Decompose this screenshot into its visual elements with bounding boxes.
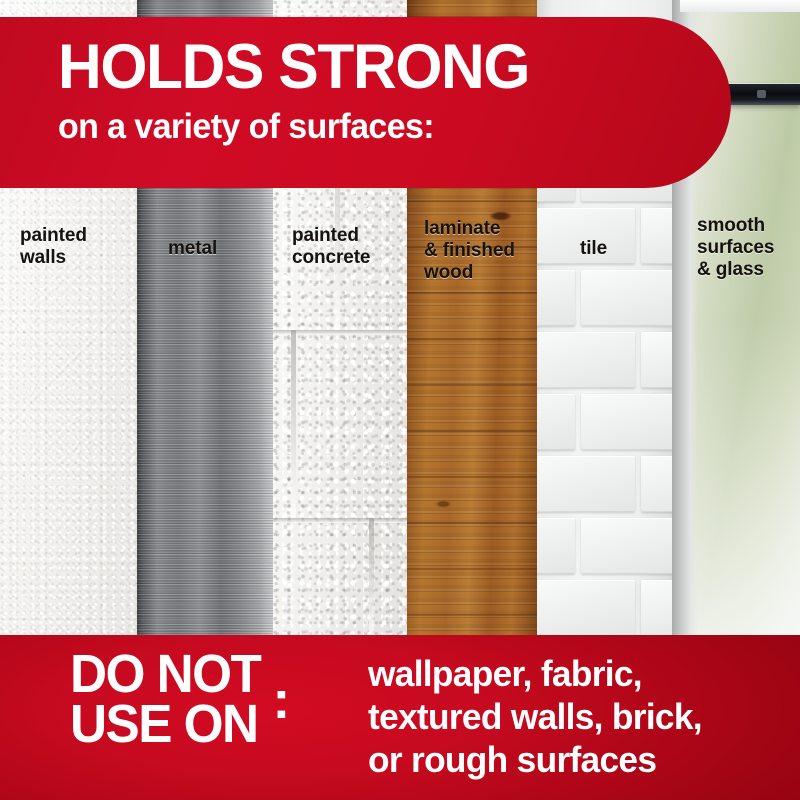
do-not-use-lead-group: DO NOT USE ON : xyxy=(70,649,289,749)
do-not-use-banner: DO NOT USE ON : wallpaper, fabric, textu… xyxy=(0,635,800,800)
do-not-use-list: wallpaper, fabric, textured walls, brick… xyxy=(368,653,702,781)
surface-label-glass: smooth surfaces & glass xyxy=(697,215,774,281)
do-not-use-colon: : xyxy=(272,675,289,725)
window-top-trim xyxy=(680,0,800,12)
headline-holds-strong: HOLDS STRONG xyxy=(58,36,529,99)
surface-label-metal: metal xyxy=(168,238,217,260)
holds-strong-banner: HOLDS STRONG on a variety of surfaces: xyxy=(0,17,731,188)
do-not-use-lead-text: DO NOT USE ON xyxy=(70,649,260,749)
surface-label-painted-walls: painted walls xyxy=(20,225,87,269)
subheadline-variety-of-surfaces: on a variety of surfaces: xyxy=(58,109,434,144)
surface-label-wood: laminate & finished wood xyxy=(424,218,515,284)
infographic-canvas: painted walls metal painted concrete lam… xyxy=(0,0,800,800)
surface-label-tile: tile xyxy=(580,238,607,260)
surface-label-painted-concrete: painted concrete xyxy=(292,225,370,269)
